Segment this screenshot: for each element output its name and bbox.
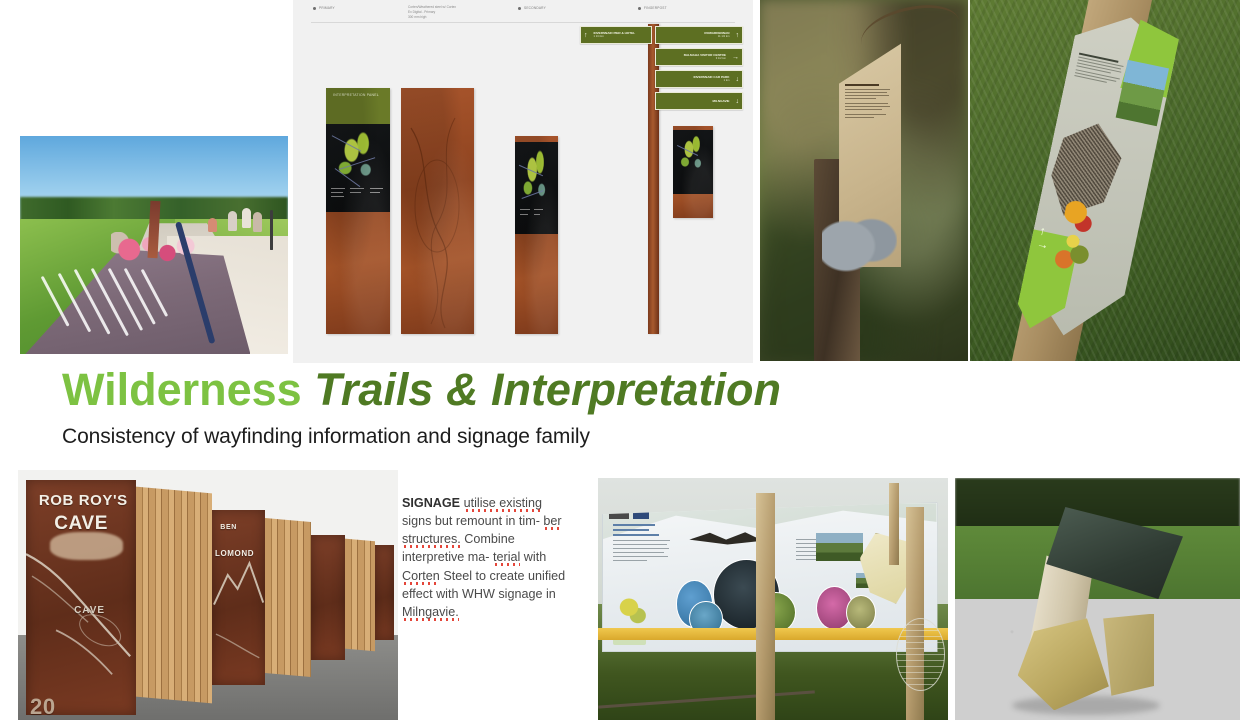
panel-secondary-map [515,136,558,334]
map-artwork [515,142,558,234]
board-column-label-fingerpost: FINGERPOST [638,6,738,11]
bird-illustration [822,202,897,281]
body-text-line-5a: terial [493,550,520,566]
fingerpost-blade-1: ROWARDENNAN 11 1/2 km ↑ [655,26,743,44]
fence-label-line-2: CAVE [54,513,108,535]
body-text-line-5d: Steel to [443,569,486,583]
blade-text: ROWARDENNAN 11 1/2 km [656,31,733,39]
body-text-line-5c: Corten [402,569,440,585]
fingerpost-blade-0: ↑ INVERSNAID PIER & HOTEL 1 1/4 km [580,26,652,44]
map-legend [331,188,385,207]
corten-plate-ben-lomond: BEN LOMOND [212,510,265,685]
deck-text-lines [39,267,205,345]
panel-text-block [845,84,894,120]
etched-artwork [401,88,474,334]
board-column-label-primary: PRIMARY [313,6,403,11]
panel-text-left [613,524,673,564]
panel-interpretation-map: INTERPRETATION PANEL [326,88,390,334]
photo-timber-lectern [955,478,1240,720]
arrow-down-icon: ↓ [733,98,743,105]
blade-distance: 3 1/2 km [659,57,726,61]
bullet-icon [638,7,641,10]
body-text-lead: SIGNAGE [402,496,460,510]
blade-distance: 1 km [659,79,730,83]
bullet-icon [313,7,316,10]
map-legend [520,209,553,229]
body-text-line-8: Milngavie. [402,605,459,621]
fence-label-lomond: LOMOND [215,549,254,558]
photo-corten-fence: ROB ROY'S CAVE CAVE 20 BEN LOMOND [18,470,398,720]
panel-heading-rule [613,524,655,526]
fingerpost-blade-2: BALMAHA VISITOR CENTRE 3 1/2 km → [655,48,743,66]
blade-distance: 1 1/4 km [594,35,649,39]
fence-label-line-1: ROB ROY'S [39,492,128,509]
arrow-down-icon: ↓ [733,76,743,83]
corten-plate-3 [311,535,345,660]
timber-slat-bank-2 [265,518,311,677]
bullet-icon [518,7,521,10]
fence-etch-label: CAVE [74,605,105,616]
panel-heading-rule [613,534,660,536]
arrow-up-icon: ↑ [733,32,743,39]
fingerpost-blade-3: INVERSNAID CAR PARK 1 km ↓ [655,70,743,88]
blade-text: BALMAHA VISITOR CENTRE 3 1/2 km [656,53,729,61]
fingerpost-blade-4: MILNGAVIE ↓ [655,92,743,110]
panel-header-label: INTERPRETATION PANEL [326,88,379,97]
arrow-up-icon: ↑ [581,32,591,39]
timber-post-center [756,493,775,720]
fence-km-marker: 20 [30,694,56,720]
photo-post-panel [760,0,968,361]
timber-slat-bank-3 [345,539,375,652]
map-artwork [326,124,390,212]
panel-heading-rule [613,529,649,531]
plant-illustration [613,592,653,630]
panel-heading-rule [845,84,879,86]
panel-green-header: INTERPRETATION PANEL [326,88,390,124]
page-subtitle: Consistency of wayfinding information an… [62,425,822,449]
fence-label-ben: BEN [220,524,237,531]
body-text-line-5b: with [524,550,546,564]
eagle-illustration [689,527,762,554]
body-text-line-7: WHW signage in [462,587,556,601]
corten-plate-4 [375,545,394,640]
blade-text: INVERSNAID CAR PARK 1 km [656,75,733,83]
panel-etched-corten [401,88,474,334]
cast-shadow [1012,696,1160,715]
panel-small-map [673,126,713,218]
slide-canvas: PRIMARY Corten/Weathered steel w/ Cortex… [0,0,1240,720]
photo-boardwalk-path [20,136,288,354]
mountain-etching [212,510,265,685]
title-block: Wilderness Trails & Interpretation Consi… [62,366,822,449]
timber-slat-bank-1 [136,487,212,704]
surface-scuff [50,532,123,560]
secondary-map-graphic [515,142,558,234]
visitors-group [192,201,283,249]
photo-interpretive-board [598,478,948,720]
body-text-block: SIGNAGE utilise existing signs but remou… [402,494,574,621]
board-spec-note: Corten/Weathered steel w/ Cortex Ex Digi… [408,5,518,20]
circle-photo-lichen [846,595,876,631]
blade-text: INVERSNAID PIER & HOTEL 1 1/4 km [591,31,652,39]
photo-green-panel: ↑ → [970,0,1240,361]
title-word-wilderness: Wilderness [62,364,302,415]
timber-side-block [1103,614,1154,696]
corten-plate-rob-roys-cave: ROB ROY'S CAVE CAVE 20 [26,480,136,715]
wire-fencing [896,618,945,691]
arrow-right-icon: → [729,54,742,61]
map-artwork [673,130,713,194]
timber-post-upper-right [889,483,900,565]
blade-distance: 11 1/2 km [659,35,730,39]
board-header-rule [311,22,735,23]
signage-design-board: PRIMARY Corten/Weathered steel w/ Cortex… [293,0,753,363]
panel-map-graphic [326,124,390,212]
body-text-line-2: signs but remount in tim- [402,514,540,528]
title-word-trails-interpretation: Trails & Interpretation [314,364,781,415]
small-map-graphic [673,130,713,194]
page-title: Wilderness Trails & Interpretation [62,366,822,413]
blade-title: MILNGAVIE [659,99,730,103]
blade-text: MILNGAVIE [656,99,733,103]
body-text-line-1: utilise existing [464,496,542,512]
inset-photo-landscape [816,533,863,561]
board-column-label-secondary: SECONDARY [518,6,608,11]
